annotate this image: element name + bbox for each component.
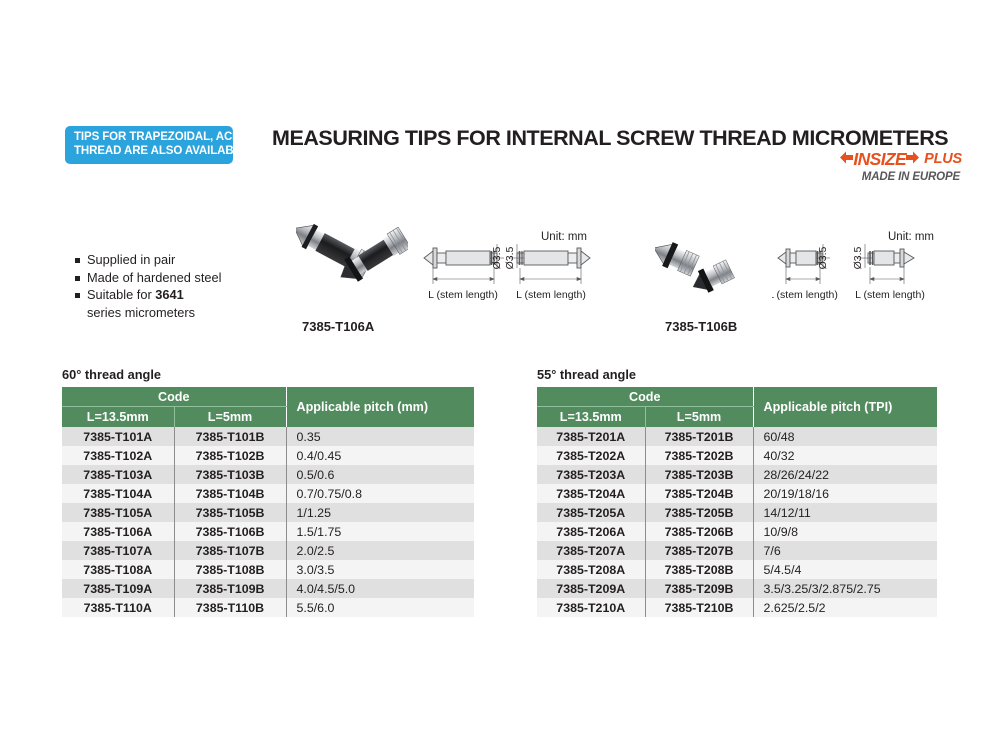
cell-code-l5: 7385-T207B: [645, 541, 753, 560]
feature-list: Supplied in pair Made of hardened steel …: [75, 252, 290, 321]
table-row: 7385-T101A7385-T101B0.35: [62, 427, 474, 446]
logo-tagline: MADE IN EUROPE: [796, 171, 962, 183]
page-title: MEASURING TIPS FOR INTERNAL SCREW THREAD…: [272, 126, 962, 151]
cell-code-l5: 7385-T205B: [645, 503, 753, 522]
availability-badge: TIPS FOR TRAPEZOIDAL, ACME THREAD ARE AL…: [65, 126, 233, 164]
diameter-label-a1: Ø3.5: [491, 246, 503, 269]
cell-code-l135: 7385-T101A: [62, 427, 174, 446]
cell-code-l5: 7385-T104B: [174, 484, 286, 503]
cell-code-l5: 7385-T106B: [174, 522, 286, 541]
cell-code-l135: 7385-T209A: [537, 579, 645, 598]
table-section-55-degree: 55° thread angle Code Applicable pitch (…: [537, 367, 937, 617]
cell-code-l135: 7385-T210A: [537, 598, 645, 617]
diameter-label-a2: Ø3.5: [504, 246, 516, 269]
cell-code-l5: 7385-T201B: [645, 427, 753, 446]
cell-code-l135: 7385-T204A: [537, 484, 645, 503]
cell-applicable-pitch: 7/6: [753, 541, 937, 560]
list-item: Made of hardened steel: [75, 270, 290, 287]
cell-applicable-pitch: 2.625/2.5/2: [753, 598, 937, 617]
table-row: 7385-T102A7385-T102B0.4/0.45: [62, 446, 474, 465]
cell-code-l135: 7385-T201A: [537, 427, 645, 446]
cell-code-l135: 7385-T106A: [62, 522, 174, 541]
cell-code-l135: 7385-T208A: [537, 560, 645, 579]
cell-applicable-pitch: 4.0/4.5/5.0: [286, 579, 474, 598]
cell-applicable-pitch: 3.0/3.5: [286, 560, 474, 579]
cell-code-l135: 7385-T104A: [62, 484, 174, 503]
cell-code-l135: 7385-T203A: [537, 465, 645, 484]
bullet-square-icon: [75, 293, 80, 298]
cell-code-l5: 7385-T103B: [174, 465, 286, 484]
feature-text: Supplied in pair: [87, 252, 175, 269]
table-row: 7385-T205A7385-T205B14/12/11: [537, 503, 937, 522]
logo-right-arrow-icon: [906, 150, 919, 170]
table-row: 7385-T204A7385-T204B20/19/18/16: [537, 484, 937, 503]
cell-applicable-pitch: 1.5/1.75: [286, 522, 474, 541]
table-body-right: 7385-T201A7385-T201B60/487385-T202A7385-…: [537, 427, 937, 617]
product-code-label-a: 7385-T106A: [302, 319, 374, 334]
table-row: 7385-T207A7385-T207B7/6: [537, 541, 937, 560]
header-l-5mm: L=5mm: [174, 407, 286, 428]
cell-code-l5: 7385-T209B: [645, 579, 753, 598]
header-code-group: Code: [537, 387, 753, 407]
cell-code-l135: 7385-T109A: [62, 579, 174, 598]
table-row: 7385-T108A7385-T108B3.0/3.5: [62, 560, 474, 579]
table-row: 7385-T104A7385-T104B0.7/0.75/0.8: [62, 484, 474, 503]
table-body-left: 7385-T101A7385-T101B0.357385-T102A7385-T…: [62, 427, 474, 617]
cell-code-l5: 7385-T203B: [645, 465, 753, 484]
header-applicable-pitch: Applicable pitch (mm): [286, 387, 474, 427]
table-header-group-row: Code Applicable pitch (TPI): [537, 387, 937, 407]
feature-continuation: series micrometers: [75, 305, 290, 322]
cell-applicable-pitch: 14/12/11: [753, 503, 937, 522]
insize-plus-logo: INSIZE PLUS MADE IN EUROPE: [796, 150, 962, 184]
spec-table-55-degree: Code Applicable pitch (TPI) L=13.5mm L=5…: [537, 387, 937, 617]
cell-applicable-pitch: 0.5/0.6: [286, 465, 474, 484]
feature-series-number: 3641: [155, 287, 183, 302]
cell-code-l5: 7385-T109B: [174, 579, 286, 598]
stem-length-label-a1: L (stem length): [428, 289, 498, 301]
cell-code-l5: 7385-T102B: [174, 446, 286, 465]
bullet-square-icon: [75, 258, 80, 263]
table-row: 7385-T106A7385-T106B1.5/1.75: [62, 522, 474, 541]
table-row: 7385-T110A7385-T110B5.5/6.0: [62, 598, 474, 617]
cell-applicable-pitch: 5/4.5/4: [753, 560, 937, 579]
cell-code-l135: 7385-T207A: [537, 541, 645, 560]
stem-length-label-a2: L (stem length): [516, 289, 586, 301]
cell-code-l5: 7385-T110B: [174, 598, 286, 617]
cell-applicable-pitch: 60/48: [753, 427, 937, 446]
table-row: 7385-T109A7385-T109B4.0/4.5/5.0: [62, 579, 474, 598]
badge-line-1: TIPS FOR TRAPEZOIDAL, ACME: [74, 131, 224, 145]
table-row: 7385-T201A7385-T201B60/48: [537, 427, 937, 446]
cell-code-l135: 7385-T105A: [62, 503, 174, 522]
technical-drawing-a: Ø3.5 L (stem length) Ø3.5 L (stem length…: [420, 228, 592, 306]
cell-applicable-pitch: 0.7/0.75/0.8: [286, 484, 474, 503]
cell-applicable-pitch: 28/26/24/22: [753, 465, 937, 484]
header-l-135mm: L=13.5mm: [537, 407, 645, 428]
product-photo-7385-t106b: [655, 224, 757, 316]
table-caption-left: 60° thread angle: [62, 367, 474, 382]
cell-code-l5: 7385-T206B: [645, 522, 753, 541]
feature-text: Suitable for 3641: [87, 287, 184, 304]
logo-left-arrow-icon: [840, 150, 853, 170]
cell-code-l5: 7385-T108B: [174, 560, 286, 579]
header-l-5mm: L=5mm: [645, 407, 753, 428]
cell-code-l135: 7385-T205A: [537, 503, 645, 522]
badge-line-2: THREAD ARE ALSO AVAILABLE: [74, 145, 224, 159]
header-l-135mm: L=13.5mm: [62, 407, 174, 428]
table-row: 7385-T210A7385-T210B2.625/2.5/2: [537, 598, 937, 617]
cell-code-l135: 7385-T206A: [537, 522, 645, 541]
table-row: 7385-T208A7385-T208B5/4.5/4: [537, 560, 937, 579]
cell-applicable-pitch: 40/32: [753, 446, 937, 465]
stem-length-label-b1: L (stem length): [772, 289, 838, 301]
cell-code-l5: 7385-T101B: [174, 427, 286, 446]
cell-code-l5: 7385-T105B: [174, 503, 286, 522]
diameter-label-b2: Ø3.5: [852, 246, 864, 269]
technical-drawing-b: Ø3.5 L (stem length) Ø3.5 L (stem length…: [772, 228, 944, 306]
cell-code-l5: 7385-T202B: [645, 446, 753, 465]
header-applicable-pitch: Applicable pitch (TPI): [753, 387, 937, 427]
spec-table-60-degree: Code Applicable pitch (mm) L=13.5mm L=5m…: [62, 387, 474, 617]
cell-applicable-pitch: 2.0/2.5: [286, 541, 474, 560]
cell-code-l5: 7385-T204B: [645, 484, 753, 503]
cell-code-l135: 7385-T103A: [62, 465, 174, 484]
feature-text-prefix: Suitable for: [87, 287, 155, 302]
cell-applicable-pitch: 10/9/8: [753, 522, 937, 541]
cell-applicable-pitch: 3.5/3.25/3/2.875/2.75: [753, 579, 937, 598]
product-photo-7385-t106a: [296, 204, 408, 306]
table-row: 7385-T202A7385-T202B40/32: [537, 446, 937, 465]
table-row: 7385-T103A7385-T103B0.5/0.6: [62, 465, 474, 484]
cell-code-l135: 7385-T102A: [62, 446, 174, 465]
table-row: 7385-T209A7385-T209B3.5/3.25/3/2.875/2.7…: [537, 579, 937, 598]
cell-code-l5: 7385-T210B: [645, 598, 753, 617]
cell-applicable-pitch: 20/19/18/16: [753, 484, 937, 503]
table-section-60-degree: 60° thread angle Code Applicable pitch (…: [62, 367, 474, 617]
table-header-group-row: Code Applicable pitch (mm): [62, 387, 474, 407]
cell-code-l5: 7385-T107B: [174, 541, 286, 560]
diameter-label-b1: Ø3.5: [817, 246, 829, 269]
cell-applicable-pitch: 0.35: [286, 427, 474, 446]
table-row: 7385-T107A7385-T107B2.0/2.5: [62, 541, 474, 560]
cell-code-l135: 7385-T107A: [62, 541, 174, 560]
header-code-group: Code: [62, 387, 286, 407]
cell-applicable-pitch: 5.5/6.0: [286, 598, 474, 617]
cell-code-l5: 7385-T208B: [645, 560, 753, 579]
cell-code-l135: 7385-T108A: [62, 560, 174, 579]
table-row: 7385-T203A7385-T203B28/26/24/22: [537, 465, 937, 484]
stem-length-label-b2: L (stem length): [855, 289, 925, 301]
logo-plus-text: PLUS: [924, 151, 962, 168]
logo-brand-text: INSIZE: [853, 151, 906, 168]
list-item: Suitable for 3641: [75, 287, 290, 304]
table-row: 7385-T206A7385-T206B10/9/8: [537, 522, 937, 541]
cell-code-l135: 7385-T202A: [537, 446, 645, 465]
table-caption-right: 55° thread angle: [537, 367, 937, 382]
cell-applicable-pitch: 0.4/0.45: [286, 446, 474, 465]
list-item: Supplied in pair: [75, 252, 290, 269]
cell-code-l135: 7385-T110A: [62, 598, 174, 617]
product-code-label-b: 7385-T106B: [665, 319, 737, 334]
cell-applicable-pitch: 1/1.25: [286, 503, 474, 522]
feature-text: Made of hardened steel: [87, 270, 221, 287]
bullet-square-icon: [75, 276, 80, 281]
table-row: 7385-T105A7385-T105B1/1.25: [62, 503, 474, 522]
